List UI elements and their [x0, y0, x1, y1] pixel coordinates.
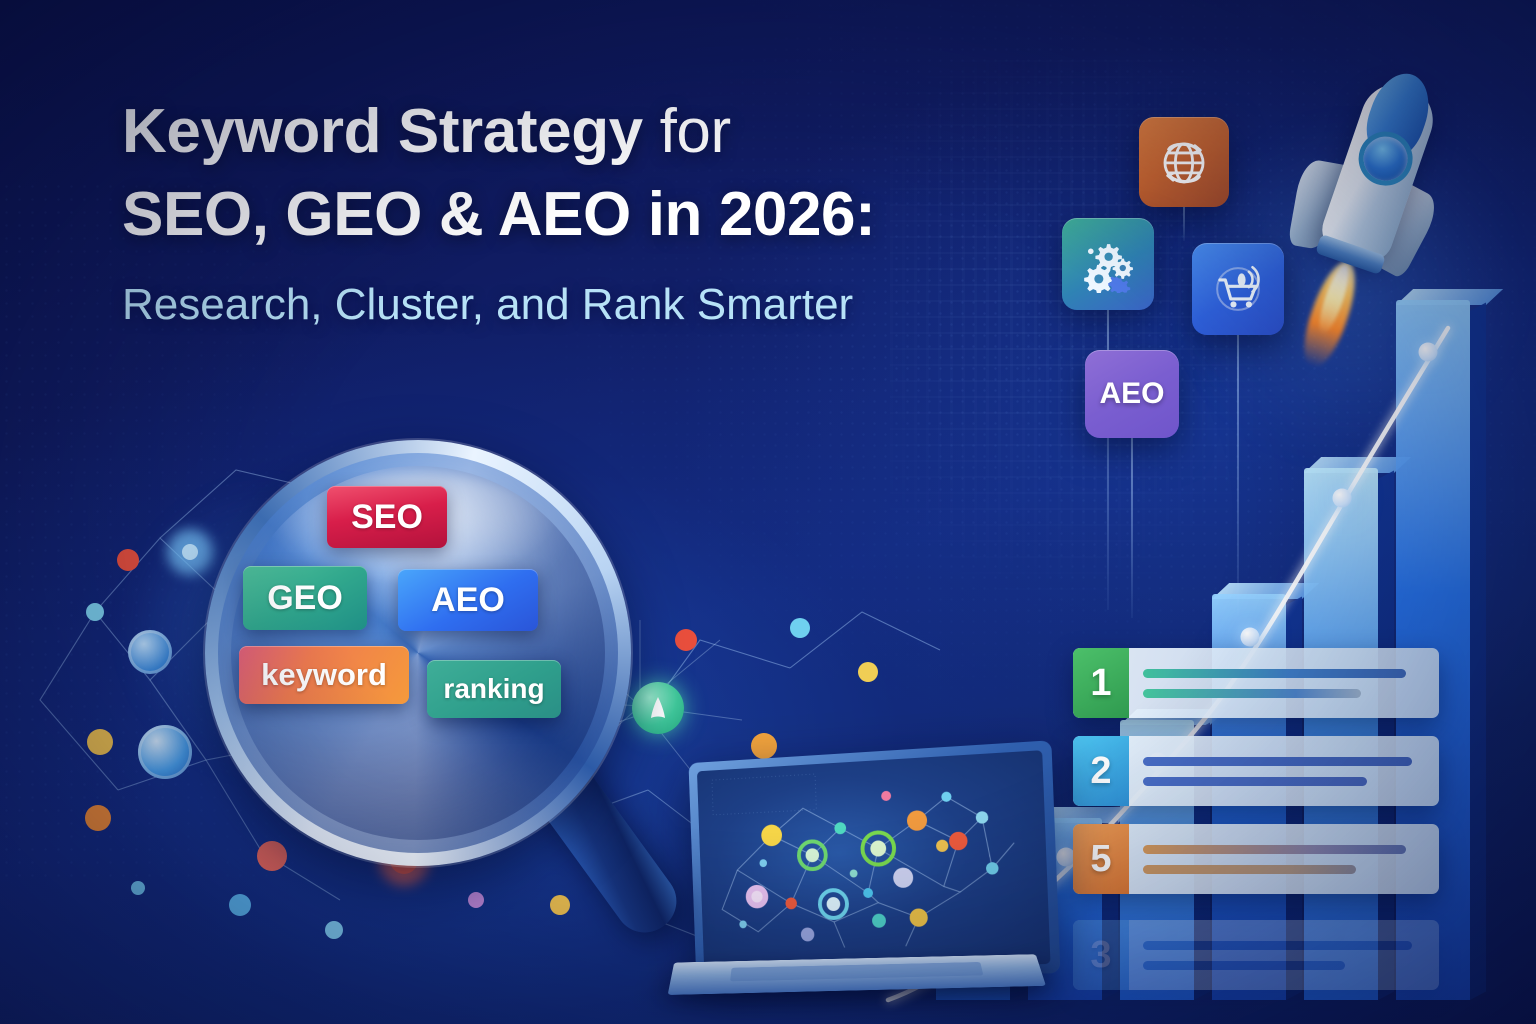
keyword-tag-ranking[interactable]: ranking [427, 660, 561, 718]
laptop-keyboard [730, 962, 983, 981]
rank-position: 3 [1073, 920, 1129, 990]
keyword-tag-keyword[interactable]: keyword [239, 646, 409, 704]
headline-line-2: SEO, GEO & AEO in 2026: [122, 175, 1042, 254]
rank-position: 1 [1073, 648, 1129, 718]
laptop-keyword-cluster-graph [672, 752, 1042, 1020]
rank-card[interactable]: 5 [1073, 824, 1439, 894]
rank-card-lines [1129, 824, 1439, 894]
gears-icon-tile[interactable] [1062, 218, 1154, 310]
keyword-tag-aeo[interactable]: AEO [398, 569, 538, 631]
globe-icon-tile[interactable] [1139, 117, 1229, 207]
headline-soft: for [643, 97, 731, 166]
hero-banner: Keyword Strategy for SEO, GEO & AEO in 2… [0, 0, 1536, 1024]
headline-strong: Keyword Strategy [122, 97, 643, 166]
tile-stem [1183, 207, 1185, 241]
headline-block: Keyword Strategy for SEO, GEO & AEO in 2… [122, 92, 1042, 332]
rank-line [1143, 941, 1412, 950]
tag-label: GEO [267, 579, 343, 618]
location-pin-node [632, 682, 684, 734]
rank-position: 5 [1073, 824, 1129, 894]
laptop-screen [688, 740, 1060, 978]
tag-label: keyword [261, 657, 387, 693]
rank-line [1143, 669, 1406, 678]
cluster-graph [697, 750, 1051, 970]
tag-label: SEO [351, 498, 423, 537]
tag-label: ranking [443, 673, 544, 705]
chart-data-point [1241, 628, 1260, 647]
gears-icon [1079, 235, 1137, 293]
rank-card-lines [1129, 920, 1439, 990]
rank-card[interactable]: 1 [1073, 648, 1439, 718]
headline-subtitle: Research, Cluster, and Rank Smarter [122, 279, 1042, 332]
headline-line-1: Keyword Strategy for [122, 92, 1042, 171]
tile-stem [1237, 335, 1239, 615]
aeo-badge-tile[interactable]: AEO [1085, 350, 1179, 438]
rank-line [1143, 865, 1356, 874]
laptop-screen-content [697, 750, 1051, 970]
rank-card-lines [1129, 736, 1439, 806]
rank-line [1143, 845, 1406, 854]
rank-position: 2 [1073, 736, 1129, 806]
rank-line [1143, 777, 1367, 786]
chart-data-point [1333, 489, 1352, 508]
chart-data-point [1419, 343, 1438, 362]
rank-line [1143, 961, 1345, 970]
keyword-tag-geo[interactable]: GEO [243, 566, 367, 630]
rank-line [1143, 689, 1361, 698]
rank-card-lines [1129, 648, 1439, 718]
rank-card[interactable]: 3 [1073, 920, 1439, 990]
tag-label: AEO [431, 581, 505, 620]
tile-stem [1131, 438, 1133, 618]
globe-icon [1155, 133, 1213, 191]
keyword-tag-seo[interactable]: SEO [327, 486, 447, 548]
rank-line [1143, 757, 1412, 766]
rank-card[interactable]: 2 [1073, 736, 1439, 806]
aeo-badge-label: AEO [1099, 377, 1164, 411]
